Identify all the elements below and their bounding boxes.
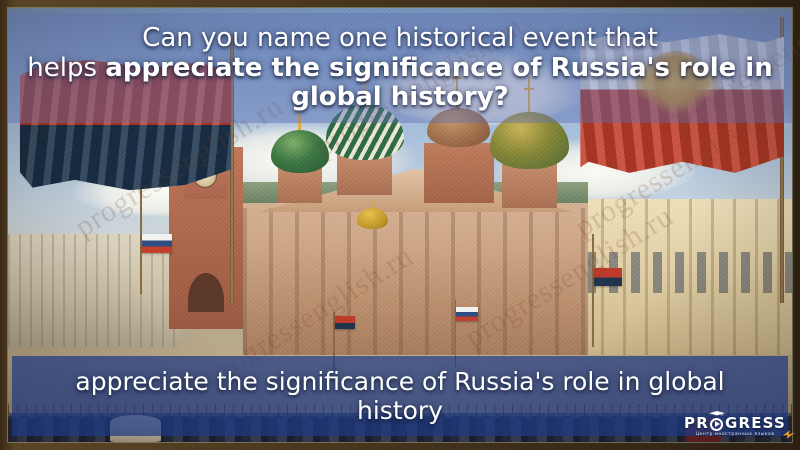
answer-line-2: history [357,398,443,424]
small-russian-tricolor-flag [456,307,478,321]
prompt-line-2-highlight: appreciate the significance of Russia's … [105,53,772,83]
prompt-line-2: helps appreciate the significance of Rus… [27,55,772,82]
logo-subtitle: Центр иностранных языков [695,433,774,438]
slide-canvas: progressenglish.ru progressenglish.ru pr… [0,0,800,450]
logo-text-part1: PR [684,416,709,431]
prompt-line-3: global history? [291,84,509,111]
graduation-cap-icon [709,411,725,416]
progress-logo-wordmark: PR GRESS [684,416,786,431]
small-red-blue-flag [335,316,355,329]
onion-dome-small-gold [357,208,388,230]
play-button-icon [710,417,724,431]
prompt-line-2-prefix: helps [27,53,105,83]
bell-tower-drum [424,143,495,204]
progress-logo[interactable]: PR GRESS Центр иностранных языков [684,416,786,438]
small-red-blue-flag [594,268,622,286]
flag-pole [592,234,594,347]
prompt-line-1: Can you name one historical event that [142,25,658,52]
play-triangle [715,421,720,427]
prompt-banner: Can you name one historical event that h… [8,13,792,123]
logo-text-part2: GRESS [725,416,786,431]
small-russian-tricolor-flag [142,234,172,253]
answer-line-1: appreciate the significance of Russia's … [75,369,724,395]
answer-banner: appreciate the significance of Russia's … [12,356,788,436]
